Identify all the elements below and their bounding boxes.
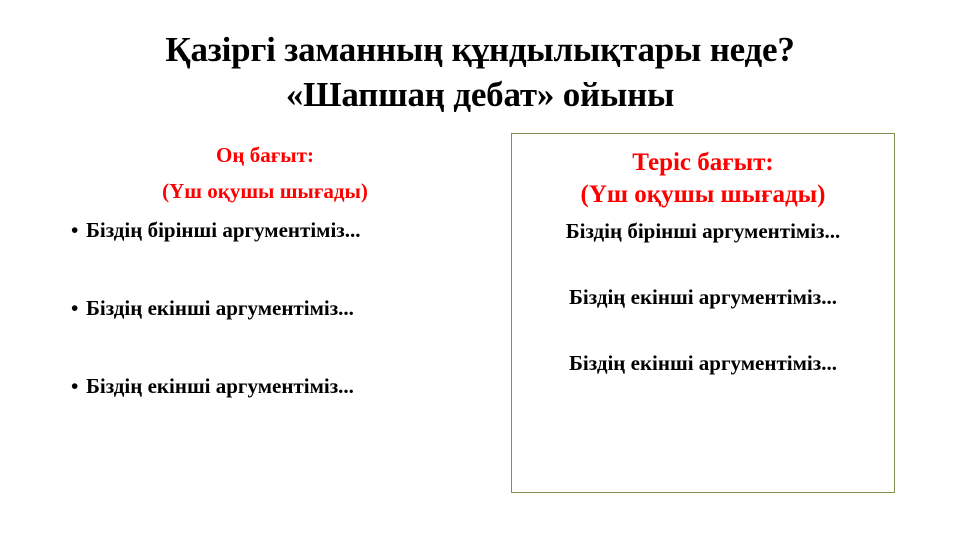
- affirmative-subheading: (Үш оқушы шығады): [40, 178, 490, 205]
- list-item: • Біздің бірінші аргументіміз...: [40, 217, 490, 243]
- page-title-line-2: «Шапшаң дебат» ойыны: [40, 72, 920, 117]
- negative-subheading: (Үш оқушы шығады): [522, 180, 884, 210]
- bullet-icon: •: [71, 373, 78, 399]
- list-item: • Біздің екінші аргументіміз...: [40, 295, 490, 321]
- page-title-line-1: Қазіргі заманның құндылықтары неде?: [40, 27, 920, 72]
- negative-heading: Теріс бағыт:: [522, 148, 884, 178]
- affirmative-column: Оң бағыт: (Үш оқушы шығады) • Біздің бір…: [40, 142, 490, 399]
- slide-canvas: Қазіргі заманның құндылықтары неде? «Шап…: [0, 0, 960, 540]
- affirmative-heading: Оң бағыт:: [40, 142, 490, 169]
- negative-panel: Теріс бағыт: (Үш оқушы шығады) Біздің бі…: [511, 133, 895, 493]
- list-item: • Біздің екінші аргументіміз...: [40, 373, 490, 399]
- affirmative-argument-list: • Біздің бірінші аргументіміз... • Бізді…: [40, 217, 490, 399]
- negative-argument-list: Біздің бірінші аргументіміз... Біздің ек…: [522, 218, 884, 376]
- list-item: Біздің екінші аргументіміз...: [522, 284, 884, 310]
- list-item: Біздің бірінші аргументіміз...: [522, 218, 884, 244]
- list-item: Біздің екінші аргументіміз...: [522, 350, 884, 376]
- bullet-icon: •: [71, 217, 78, 243]
- page-title: Қазіргі заманның құндылықтары неде? «Шап…: [40, 27, 920, 117]
- bullet-icon: •: [71, 295, 78, 321]
- list-item-label: Біздің екінші аргументіміз...: [86, 374, 354, 398]
- list-item-label: Біздің бірінші аргументіміз...: [86, 218, 361, 242]
- list-item-label: Біздің екінші аргументіміз...: [86, 296, 354, 320]
